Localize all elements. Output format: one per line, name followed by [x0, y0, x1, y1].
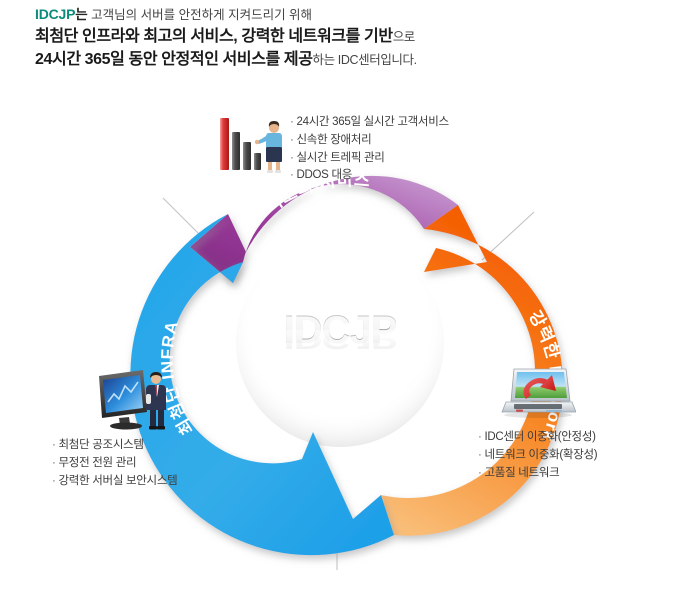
list-item: ·무정전 전원 관리 [52, 455, 177, 473]
callout-infra: ·최첨단 공조시스템 ·무정전 전원 관리 ·강력한 서버실 보안시스템 [52, 437, 177, 490]
bullet-icon: · [52, 475, 56, 487]
list-item: ·네트워크 이중화(확장성) [478, 447, 597, 465]
laptop-refresh-icon [500, 367, 576, 419]
list-item-label: 최첨단 공조시스템 [59, 439, 144, 451]
cycle-diagram: 최고의 서비스 강력한 Network 최첨단 INFRA IDCJP IDCJ… [0, 0, 680, 600]
list-item-label: 무정전 전원 관리 [59, 457, 137, 469]
cycle-diagram-svg: 최고의 서비스 강력한 Network 최첨단 INFRA [0, 0, 680, 600]
list-item-label: DDOS 대응 [297, 169, 352, 181]
bullet-icon: · [478, 467, 482, 479]
callout-infra-list: ·최첨단 공조시스템 ·무정전 전원 관리 ·강력한 서버실 보안시스템 [52, 437, 177, 490]
list-item-label: IDC센터 이중화(안정성) [485, 431, 596, 443]
list-item-label: 고품질 네트워크 [485, 467, 560, 479]
monitor-businessman-icon [93, 366, 173, 434]
callout-service-list: ·24시간 365일 실시간 고객서비스 ·신속한 장애처리 ·실시간 트레픽 … [290, 114, 449, 185]
list-item: ·최첨단 공조시스템 [52, 437, 177, 455]
bullet-icon: · [290, 134, 294, 146]
list-item-label: 강력한 서버실 보안시스템 [59, 475, 178, 487]
list-item: ·DDOS 대응 [290, 167, 449, 185]
bullet-icon: · [290, 169, 294, 181]
list-item: ·신속한 장애처리 [290, 132, 449, 150]
list-item-label: 네트워크 이중화(확장성) [485, 449, 598, 461]
bullet-icon: · [478, 431, 482, 443]
list-item-label: 신속한 장애처리 [297, 134, 372, 146]
bullet-icon: · [290, 152, 294, 164]
bullet-icon: · [52, 439, 56, 451]
list-item: ·실시간 트레픽 관리 [290, 150, 449, 168]
callout-service: ·24시간 365일 실시간 고객서비스 ·신속한 장애처리 ·실시간 트레픽 … [290, 114, 449, 185]
list-item: ·강력한 서버실 보안시스템 [52, 473, 177, 491]
cycle-inner-disc [236, 239, 444, 447]
bullet-icon: · [52, 457, 56, 469]
list-item-label: 24시간 365일 실시간 고객서비스 [297, 116, 449, 128]
bullet-icon: · [290, 116, 294, 128]
list-item: ·24시간 365일 실시간 고객서비스 [290, 114, 449, 132]
bullet-icon: · [478, 449, 482, 461]
callout-network-list: ·IDC센터 이중화(안정성) ·네트워크 이중화(확장성) ·고품질 네트워크 [478, 429, 597, 482]
callout-network: ·IDC센터 이중화(안정성) ·네트워크 이중화(확장성) ·고품질 네트워크 [478, 429, 597, 482]
list-item-label: 실시간 트레픽 관리 [297, 152, 385, 164]
list-item: ·고품질 네트워크 [478, 465, 597, 483]
bar-chart-person-icon [218, 112, 288, 174]
list-item: ·IDC센터 이중화(안정성) [478, 429, 597, 447]
